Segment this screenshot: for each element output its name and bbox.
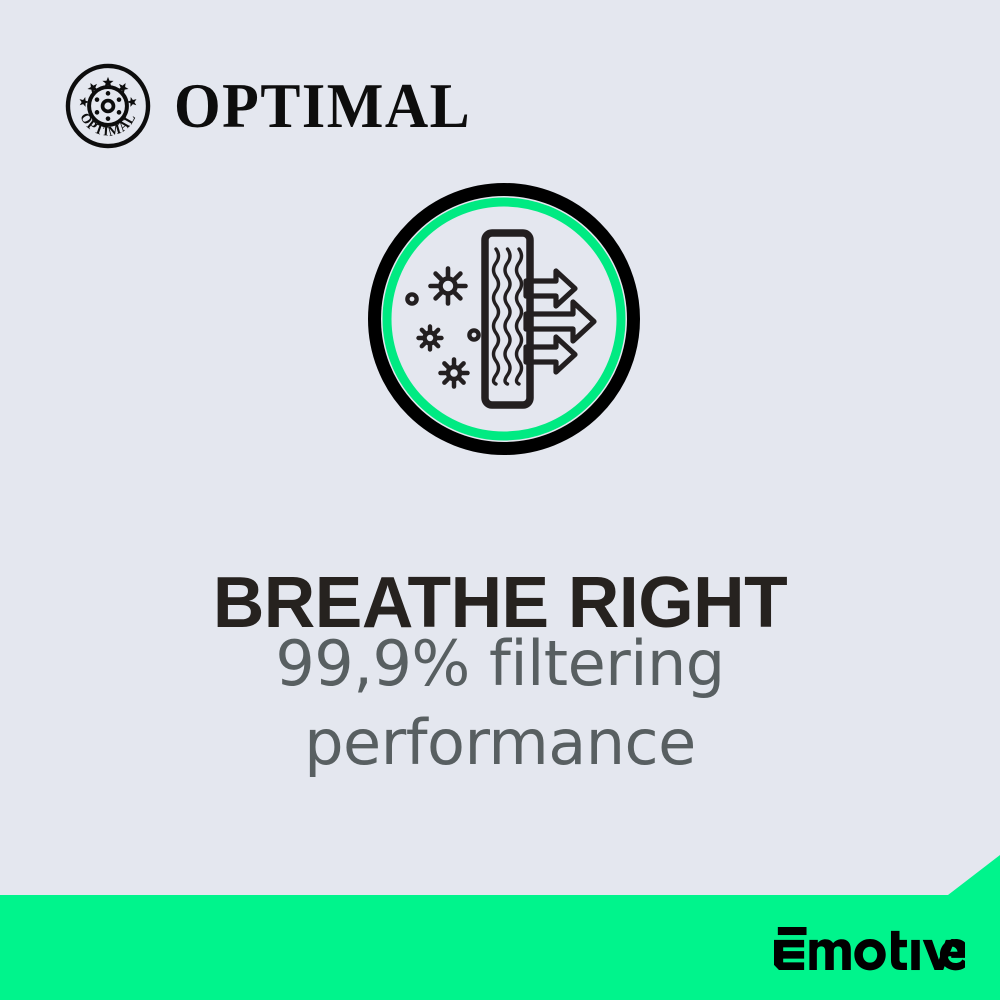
optimal-wheel-badge-icon: OPTIMAL [64, 62, 152, 150]
svg-text:OPTIMAL: OPTIMAL [77, 110, 138, 139]
subhead: 99,9% filtering performance [0, 624, 1000, 783]
badge-ring-text: OPTIMAL [77, 110, 138, 139]
brand-header: OPTIMAL OPTIMAL [64, 62, 471, 150]
footer-band [0, 855, 1000, 1000]
brand-wordmark: OPTIMAL [174, 74, 471, 138]
poster-canvas: OPTIMAL OPTIMAL [0, 0, 1000, 1000]
air-filter-circle-icon [368, 183, 640, 455]
emotive-wordmark-logo [774, 927, 965, 971]
subhead-line-2: performance [0, 703, 1000, 782]
subhead-line-1: 99,9% filtering [0, 624, 1000, 703]
